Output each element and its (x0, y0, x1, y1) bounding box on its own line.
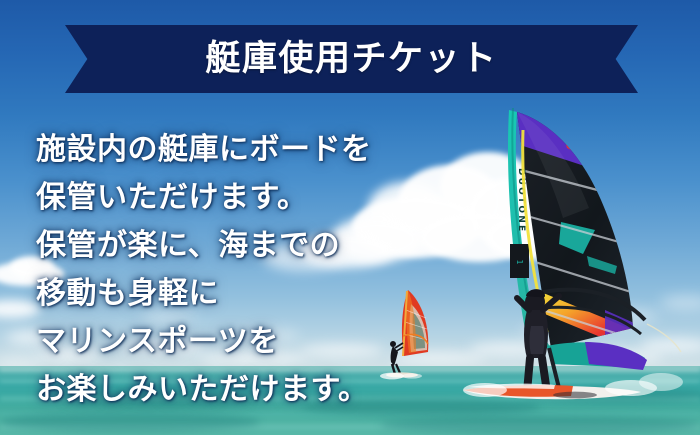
wave-shadow (380, 416, 700, 434)
wave-shadow (0, 412, 260, 432)
description-line: 保管いただけます。 (36, 174, 466, 222)
description-line: 施設内の艇庫にボードを (36, 126, 466, 174)
description-text-block: 施設内の艇庫にボードを 保管いただけます。 保管が楽に、海までの 移動も身軽に … (36, 126, 466, 414)
description-line: お楽しみいただけます。 (36, 366, 466, 414)
promo-banner: 1 DUOTONE (0, 0, 700, 435)
sailboard (463, 373, 683, 399)
page-title: 艇庫使用チケット (205, 42, 497, 77)
sail-logo-text: 1 (515, 259, 524, 264)
main-windsurfer: 1 DUOTONE (455, 96, 700, 408)
description-line: 移動も身軽に (36, 270, 466, 318)
description-line: マリンスポーツを (36, 318, 466, 366)
title-ribbon: 艇庫使用チケット (65, 25, 638, 93)
description-line: 保管が楽に、海までの (36, 222, 466, 270)
